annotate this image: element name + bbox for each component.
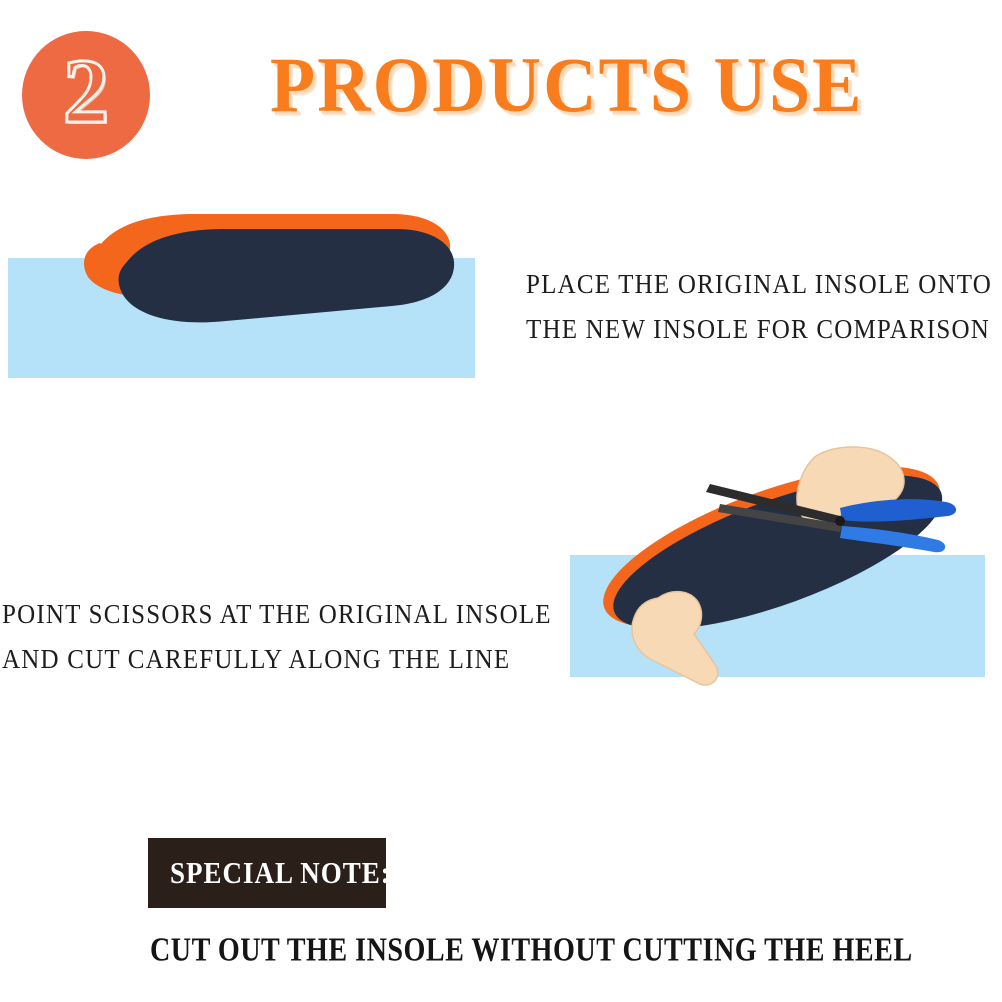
caption-line: THE NEW INSOLE FOR COMPARISON bbox=[526, 305, 992, 355]
step-number-badge: 2 bbox=[22, 31, 150, 159]
special-note-text: CUT OUT THE INSOLE WITHOUT CUTTING THE H… bbox=[150, 926, 913, 973]
step-number-text: 2 bbox=[63, 45, 109, 137]
cutting-scene-illustration bbox=[540, 420, 1002, 690]
page-title: PRODUCTS USE bbox=[270, 40, 950, 131]
caption-line: AND CUT CAREFULLY ALONG THE LINE bbox=[2, 635, 552, 685]
caption-line: POINT SCISSORS AT THE ORIGINAL INSOLE bbox=[2, 590, 552, 640]
special-note-label: SPECIAL NOTE: bbox=[148, 856, 391, 891]
caption-place-original-insole: PLACE THE ORIGINAL INSOLE ONTO THE NEW I… bbox=[526, 262, 992, 352]
insole-illustration bbox=[40, 205, 460, 365]
special-note-badge: SPECIAL NOTE: bbox=[148, 838, 386, 908]
insole-cutting-photo bbox=[540, 420, 1002, 690]
caption-line: PLACE THE ORIGINAL INSOLE ONTO bbox=[526, 260, 992, 310]
caption-point-scissors: POINT SCISSORS AT THE ORIGINAL INSOLE AN… bbox=[2, 592, 552, 682]
insole-comparison-photo bbox=[0, 205, 500, 390]
infographic-canvas: 2 PRODUCTS USE PLACE THE ORIGINAL INSOLE… bbox=[0, 0, 1002, 1002]
